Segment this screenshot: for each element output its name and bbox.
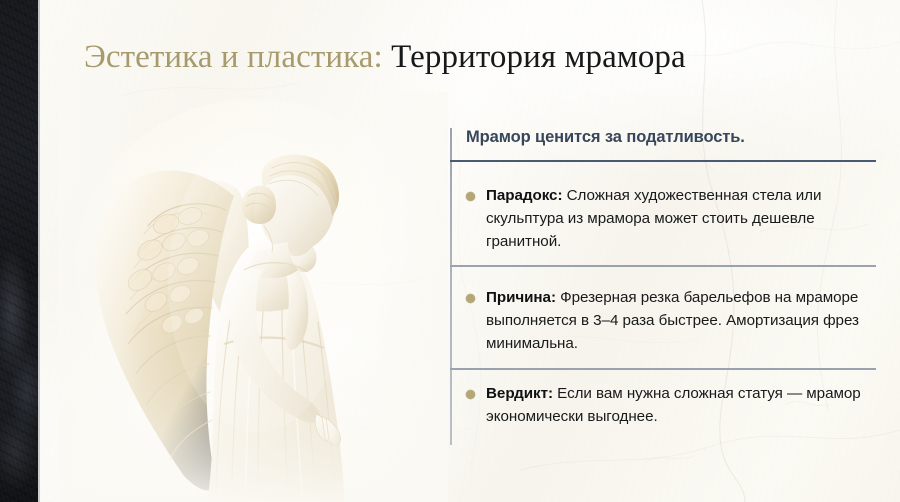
divider-1 bbox=[450, 265, 876, 267]
angel-statue-image bbox=[58, 92, 448, 502]
slide-title: Эстетика и пластика: Территория мрамора bbox=[84, 38, 686, 77]
bullet-item-paradox: Парадокс: Сложная художественная стела и… bbox=[466, 184, 874, 253]
bullet-label: Причина: bbox=[486, 289, 556, 306]
bullet-item-verdict: Вердикт: Если вам нужна сложная статуя —… bbox=[466, 382, 874, 428]
bullet-dot-icon bbox=[466, 390, 475, 399]
bullet-item-reason: Причина: Фрезерная резка барельефов на м… bbox=[466, 286, 874, 355]
divider-under-heading bbox=[450, 160, 876, 162]
divider-2 bbox=[450, 368, 876, 370]
bullet-text: Парадокс: Сложная художественная стела и… bbox=[486, 184, 874, 253]
panel-vertical-rule bbox=[450, 128, 452, 445]
bullet-text: Причина: Фрезерная резка барельефов на м… bbox=[486, 286, 874, 355]
bullet-dot-icon bbox=[466, 294, 475, 303]
slide-root: Эстетика и пластика: Территория мрамора … bbox=[0, 0, 900, 502]
stone-strip-edge bbox=[38, 0, 40, 502]
title-main: Территория мрамора bbox=[383, 39, 686, 75]
stone-grain bbox=[0, 0, 38, 502]
bullet-label: Вердикт: bbox=[486, 385, 553, 402]
bullet-label: Парадокс: bbox=[486, 187, 562, 204]
title-accent: Эстетика и пластика: bbox=[84, 39, 383, 75]
bullet-dot-icon bbox=[466, 192, 475, 201]
left-stone-strip bbox=[0, 0, 38, 502]
panel-heading: Мрамор ценится за податливость. bbox=[466, 128, 866, 147]
bullet-text: Вердикт: Если вам нужна сложная статуя —… bbox=[486, 382, 874, 428]
